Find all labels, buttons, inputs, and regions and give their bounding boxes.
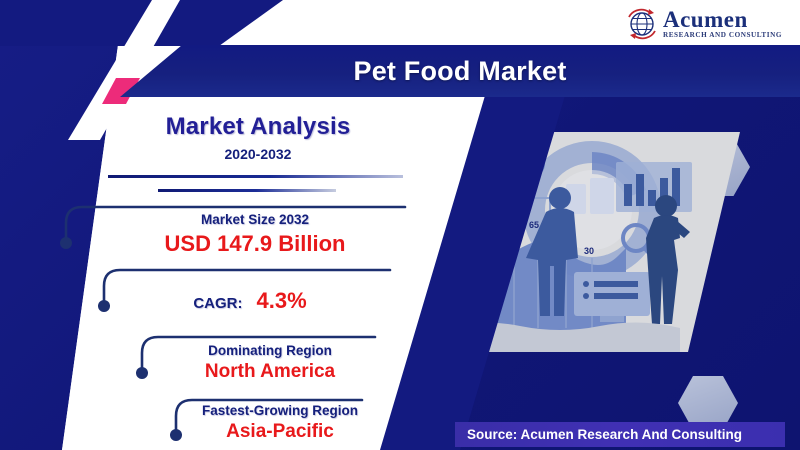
svg-text:65: 65 xyxy=(529,220,539,230)
source-text: Source: Acumen Research And Consulting xyxy=(467,427,742,442)
fact-fastest-growing-region: Fastest-Growing Region Asia-Pacific xyxy=(150,403,410,443)
fact-caption-cagr: CAGR: xyxy=(193,295,242,312)
fact-dominating-region: Dominating Region North America xyxy=(130,343,410,383)
fact-value-fastest-growing-region: Asia-Pacific xyxy=(150,421,410,443)
source-bar: Source: Acumen Research And Consulting xyxy=(455,422,785,447)
fact-market-size: Market Size 2032 USD 147.9 Billion xyxy=(100,212,410,257)
logo-name: Acumen xyxy=(663,8,782,31)
page-title: Pet Food Market xyxy=(120,45,800,97)
fact-value-dominating-region: North America xyxy=(130,361,410,383)
fact-cagr: CAGR: 4.3% xyxy=(100,288,400,314)
section-heading: Market Analysis xyxy=(108,113,408,141)
infographic-canvas: 10 20 50 65 45 30 xyxy=(0,0,800,450)
globe-icon xyxy=(625,7,659,41)
brand-logo[interactable]: Acumen RESEARCH AND CONSULTING xyxy=(625,4,782,44)
section-period: 2020-2032 xyxy=(108,146,408,162)
fact-caption-market-size: Market Size 2032 xyxy=(100,212,410,227)
svg-text:30: 30 xyxy=(584,246,594,256)
fact-value-market-size: USD 147.9 Billion xyxy=(100,231,410,257)
logo-wordmark: Acumen RESEARCH AND CONSULTING xyxy=(663,8,782,39)
divider-long xyxy=(108,175,403,178)
fact-caption-fastest-growing-region: Fastest-Growing Region xyxy=(150,403,410,418)
fact-caption-dominating-region: Dominating Region xyxy=(130,343,410,358)
fact-value-cagr: 4.3% xyxy=(257,288,307,314)
logo-tagline: RESEARCH AND CONSULTING xyxy=(663,32,782,39)
divider-short xyxy=(158,189,336,192)
